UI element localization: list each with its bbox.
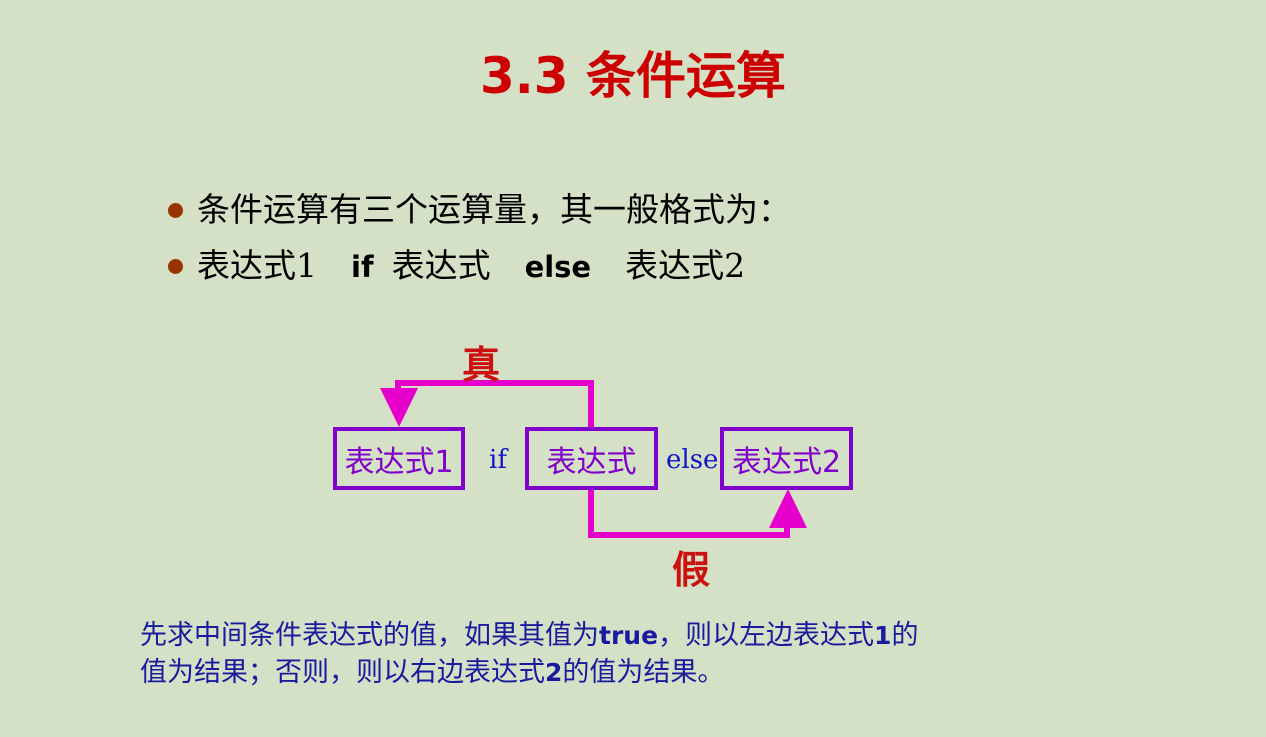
diagram-box-expression2: 表达式2 xyxy=(720,427,853,490)
true-branch-wire-riser xyxy=(588,380,594,430)
diagram-label-false: 假 xyxy=(672,539,710,594)
true-branch-wire-horizontal xyxy=(395,380,594,386)
diagram-label-true: 真 xyxy=(462,334,500,389)
true-branch-wire-descender xyxy=(395,380,401,392)
caption-true-keyword: true xyxy=(599,621,658,650)
round-bullet-icon xyxy=(168,259,183,274)
arrow-down-icon xyxy=(380,388,418,427)
bullet-list: 条件运算有三个运算量，其一般格式为： 表达式1if表达式else表达式2 xyxy=(168,182,1168,294)
caption-expr2-number: 2 xyxy=(545,658,562,687)
caption-line2-part-a: 值为结果；否则，则以右边表达式 xyxy=(140,657,545,688)
caption-line1-part-a: 先求中间条件表达式的值，如果其值为 xyxy=(140,620,599,651)
bullet-item-syntax: 表达式1if表达式else表达式2 xyxy=(168,238,1168,294)
slide-canvas: 3.3 条件运算 条件运算有三个运算量，其一般格式为： 表达式1if表达式els… xyxy=(0,0,1266,737)
syntax-cond: 表达式 xyxy=(392,246,491,285)
title-number: 3.3 xyxy=(480,47,569,105)
title-text: 条件运算 xyxy=(586,46,786,105)
false-branch-wire-descender xyxy=(588,488,594,538)
caption-expr1-number: 1 xyxy=(874,621,891,650)
arrow-up-icon xyxy=(769,489,807,528)
syntax-expr1: 表达式1 xyxy=(197,246,317,285)
caption-line2-part-b: 的值为结果。 xyxy=(562,657,724,688)
false-branch-wire-horizontal xyxy=(588,532,790,538)
diagram-label-else: else xyxy=(666,445,718,475)
caption-line1-part-b: ，则以左边表达式 xyxy=(658,620,874,651)
bullet-item-format: 条件运算有三个运算量，其一般格式为： xyxy=(168,182,1168,238)
syntax-expr2: 表达式2 xyxy=(625,246,745,285)
caption-line1-part-c: 的 xyxy=(891,620,918,651)
bullet-item-syntax-label: 表达式1if表达式else表达式2 xyxy=(197,247,745,285)
bullet-item-format-label: 条件运算有三个运算量，其一般格式为： xyxy=(197,191,791,229)
diagram-box-expression1: 表达式1 xyxy=(333,427,465,490)
diagram-box-condition: 表达式 xyxy=(525,427,658,490)
syntax-else-keyword: else xyxy=(525,250,592,284)
syntax-if-keyword: if xyxy=(351,250,374,284)
page-title: 3.3 条件运算 xyxy=(0,48,1266,104)
diagram-label-if: if xyxy=(489,445,507,475)
round-bullet-icon xyxy=(168,203,183,218)
false-branch-wire-riser xyxy=(784,522,790,538)
explanation-text: 先求中间条件表达式的值，如果其值为true，则以左边表达式1的值为结果；否则，则… xyxy=(140,617,1120,692)
